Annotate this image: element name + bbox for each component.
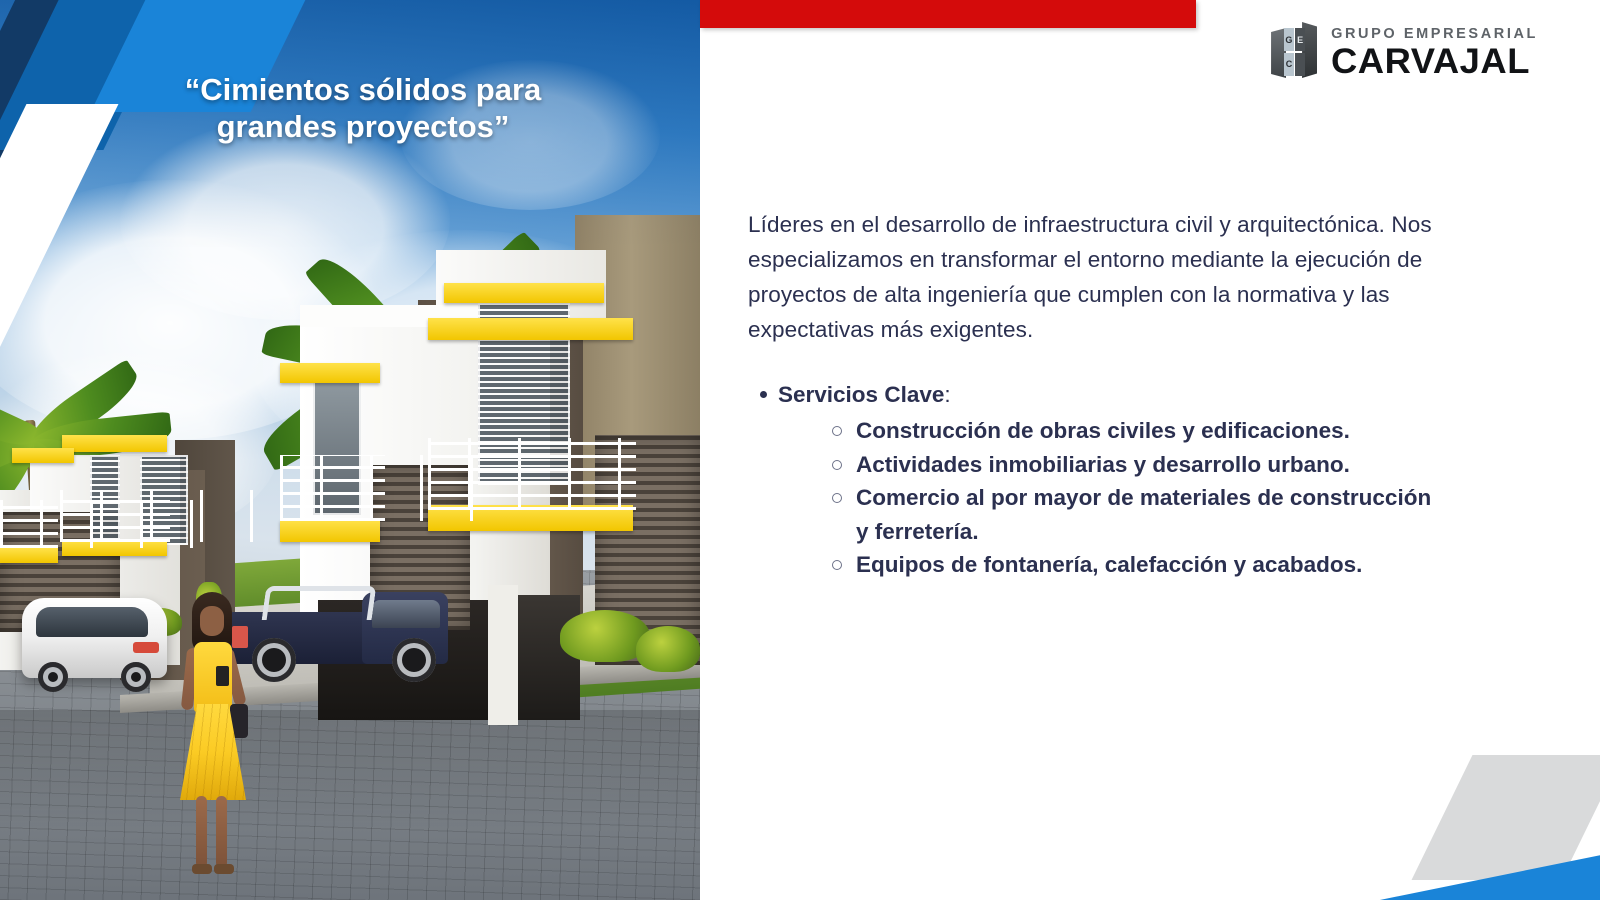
- services-heading-item: Servicios Clave: Construcción de obras c…: [748, 378, 1448, 582]
- brand-name: CARVAJAL: [1331, 44, 1546, 79]
- top-red-bar: [700, 0, 1196, 28]
- car-taillight: [133, 642, 159, 653]
- brand-logo: G E C GRUPO EMPRESARIAL CARVAJAL: [1271, 22, 1538, 84]
- lead-paragraph: Líderes en el desarrollo de infraestruct…: [748, 208, 1448, 348]
- brand-tagline: GRUPO EMPRESARIAL: [1331, 27, 1538, 42]
- car-wheel: [38, 662, 68, 692]
- slide-canvas: “Cimientos sólidos paragrandes proyectos…: [0, 0, 1600, 900]
- brand-wordmark: GRUPO EMPRESARIAL CARVAJAL: [1331, 27, 1538, 80]
- phone-icon: [216, 666, 229, 686]
- person-shoe: [192, 864, 212, 874]
- awning-yellow: [444, 283, 604, 303]
- gec-cell-g: G: [1284, 28, 1294, 51]
- person-face: [200, 606, 224, 636]
- gec-cell-c: C: [1284, 53, 1294, 76]
- truck-wheel: [392, 638, 436, 682]
- awning-yellow: [280, 520, 380, 542]
- service-item: Actividades inmobiliarias y desarrollo u…: [830, 448, 1448, 482]
- services-heading-label: Servicios Clave: [778, 382, 944, 407]
- services-sublist: Construcción de obras civiles y edificac…: [778, 414, 1448, 582]
- balcony-railing: [280, 455, 385, 521]
- content-column: Líderes en el desarrollo de infraestruct…: [748, 208, 1448, 582]
- parked-pickup-truck: [228, 590, 448, 682]
- person-leg: [216, 796, 227, 868]
- services-list: Servicios Clave: Construcción de obras c…: [748, 378, 1448, 582]
- truck-wheel: [252, 638, 296, 682]
- car-wheel: [121, 662, 151, 692]
- gec-cell-blank: [1295, 53, 1305, 76]
- shrub: [636, 626, 700, 672]
- person-shoe: [214, 864, 234, 874]
- car-rear-window: [36, 607, 148, 637]
- gec-cell-e: E: [1295, 28, 1305, 51]
- person-woman: [172, 592, 250, 882]
- truck-window: [372, 600, 440, 628]
- balcony-railing: [428, 438, 636, 510]
- parked-car-white: [22, 598, 167, 678]
- awning-yellow: [280, 363, 380, 383]
- gec-building-icon: G E C: [1271, 22, 1317, 84]
- service-item: Comercio al por mayor de materiales de c…: [830, 481, 1448, 548]
- person-leg: [196, 796, 207, 868]
- garage-column: [488, 585, 518, 725]
- services-heading-colon: :: [944, 382, 950, 407]
- balcony-railing: [60, 490, 170, 542]
- truck-roll-bar: [262, 586, 377, 620]
- balcony-railing: [0, 500, 58, 548]
- street-shadow: [0, 710, 700, 830]
- service-item: Equipos de fontanería, calefacción y aca…: [830, 548, 1448, 582]
- gec-icon-letter-grid: G E C: [1284, 28, 1305, 76]
- photo-headline: “Cimientos sólidos paragrandes proyectos…: [148, 72, 578, 145]
- awning-yellow: [0, 548, 58, 563]
- awning-yellow: [428, 318, 633, 340]
- service-item: Construcción de obras civiles y edificac…: [830, 414, 1448, 448]
- awning-yellow: [62, 540, 167, 556]
- decor-bottom-right: [1270, 710, 1600, 900]
- awning-yellow: [62, 435, 167, 452]
- awning-yellow: [12, 448, 74, 463]
